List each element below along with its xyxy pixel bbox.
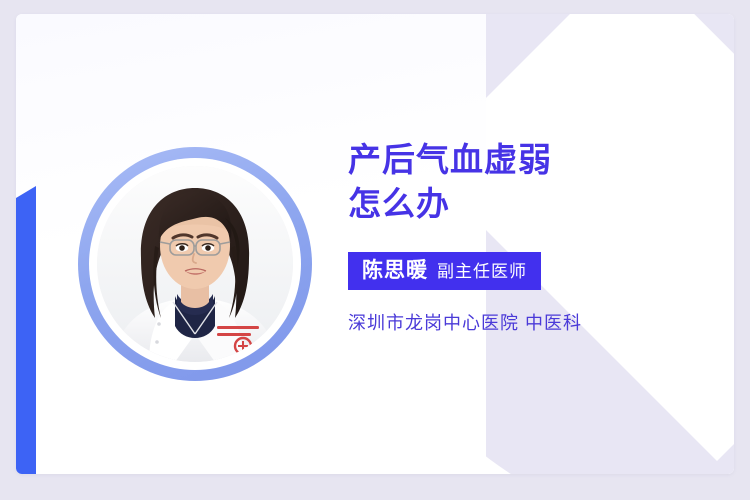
doctor-info-card: 产后气血虚弱 怎么办 陈思暖副主任医师 深圳市龙岗中心医院 中医科 [16,14,734,474]
avatar [78,147,312,381]
doctor-affiliation: 深圳市龙岗中心医院 中医科 [348,309,718,335]
doctor-portrait-icon [97,166,293,362]
screenshot-stage: 产后气血虚弱 怎么办 陈思暖副主任医师 深圳市龙岗中心医院 中医科 [0,0,750,500]
page-title: 产后气血虚弱 怎么办 [348,138,718,226]
left-accent-bar [16,186,36,474]
info-text-column: 产后气血虚弱 怎么办 陈思暖副主任医师 深圳市龙岗中心医院 中医科 [348,138,718,335]
doctor-role: 副主任医师 [437,262,527,281]
doctor-name: 陈思暖 [362,259,428,282]
doctor-name-badge: 陈思暖副主任医师 [348,252,541,290]
